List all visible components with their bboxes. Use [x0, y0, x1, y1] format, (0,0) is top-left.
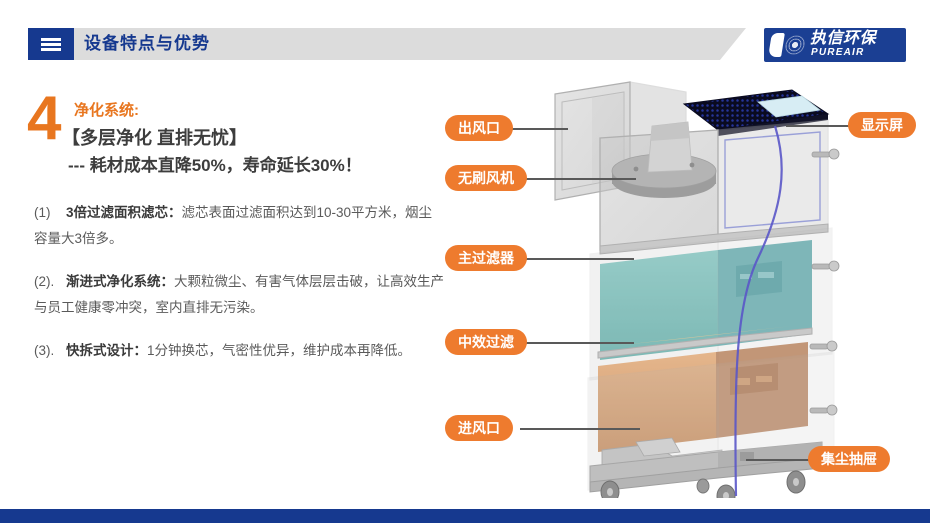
- section-subheadline: --- 耗材成本直降50%，寿命延长30%！: [68, 154, 362, 177]
- callout-brushless-fan[interactable]: 无刷风机: [445, 165, 527, 191]
- leader-line-fan: [524, 178, 636, 180]
- brand-logo: 执信环保 PUREAIR: [764, 28, 906, 62]
- callout-dust-drawer[interactable]: 集尘抽屉: [808, 446, 890, 472]
- bullet-body: 渐进式净化系统：大颗粒微尘、有害气体层层击破，让高效生产与员工健康零冲突，室内直…: [34, 274, 444, 315]
- list-item: (2). 渐进式净化系统：大颗粒微尘、有害气体层层击破，让高效生产与员工健康零冲…: [34, 269, 444, 321]
- bullet-body: 3倍过滤面积滤芯：滤芯表面过滤面积达到10-30平方米，烟尘容量大3倍多。: [34, 205, 432, 246]
- bullet-index: (2).: [34, 269, 64, 295]
- callout-main-filter[interactable]: 主过滤器: [445, 245, 527, 271]
- leader-line-dust-drawer: [746, 459, 810, 461]
- list-item: (3). 快拆式设计：1分钟换芯，气密性优异，维护成本再降低。: [34, 338, 444, 364]
- bullet-text: 1分钟换芯，气密性优异，维护成本再降低。: [147, 343, 411, 358]
- leader-line-main-filter: [526, 258, 634, 260]
- section-numeral: 4: [27, 88, 61, 150]
- bullet-body: 快拆式设计：1分钟换芯，气密性优异，维护成本再降低。: [66, 343, 411, 358]
- leader-line-display: [786, 125, 850, 127]
- bullet-index: (1): [34, 200, 64, 226]
- hamburger-icon[interactable]: [28, 28, 74, 60]
- list-item: (1) 3倍过滤面积滤芯：滤芯表面过滤面积达到10-30平方米，烟尘容量大3倍多…: [34, 200, 444, 252]
- section-kicker: 净化系统:: [74, 101, 139, 120]
- menu-button[interactable]: [28, 28, 74, 60]
- bullet-list: (1) 3倍过滤面积滤芯：滤芯表面过滤面积达到10-30平方米，烟尘容量大3倍多…: [34, 200, 444, 381]
- callout-air-inlet[interactable]: 进风口: [445, 415, 513, 441]
- bullet-bold: 渐进式净化系统：: [66, 274, 174, 289]
- callout-medium-filter[interactable]: 中效过滤: [445, 329, 527, 355]
- callout-display-screen[interactable]: 显示屏: [848, 112, 916, 138]
- page-footer: [0, 509, 930, 523]
- section-headline: 【多层净化 直排无忧】: [62, 126, 247, 150]
- page-title: 设备特点与优势: [84, 30, 210, 58]
- page-header: 设备特点与优势 执信环保 PUREAIR: [0, 0, 930, 80]
- leader-line-medium-filter: [526, 342, 634, 344]
- bullet-bold: 3倍过滤面积滤芯：: [66, 205, 182, 220]
- leader-line-air-inlet: [520, 428, 640, 430]
- machine-illustration: [440, 78, 930, 498]
- logo-swoosh-icon: [770, 32, 806, 58]
- product-diagram: 出风口 无刷风机 主过滤器 中效过滤 进风口 显示屏 集尘抽屉: [440, 78, 930, 498]
- bullet-index: (3).: [34, 338, 64, 364]
- logo-text-cn: 执信环保: [810, 30, 876, 47]
- bullet-bold: 快拆式设计：: [66, 343, 147, 358]
- callout-air-outlet[interactable]: 出风口: [445, 115, 513, 141]
- logo-text-en: PUREAIR: [811, 47, 864, 58]
